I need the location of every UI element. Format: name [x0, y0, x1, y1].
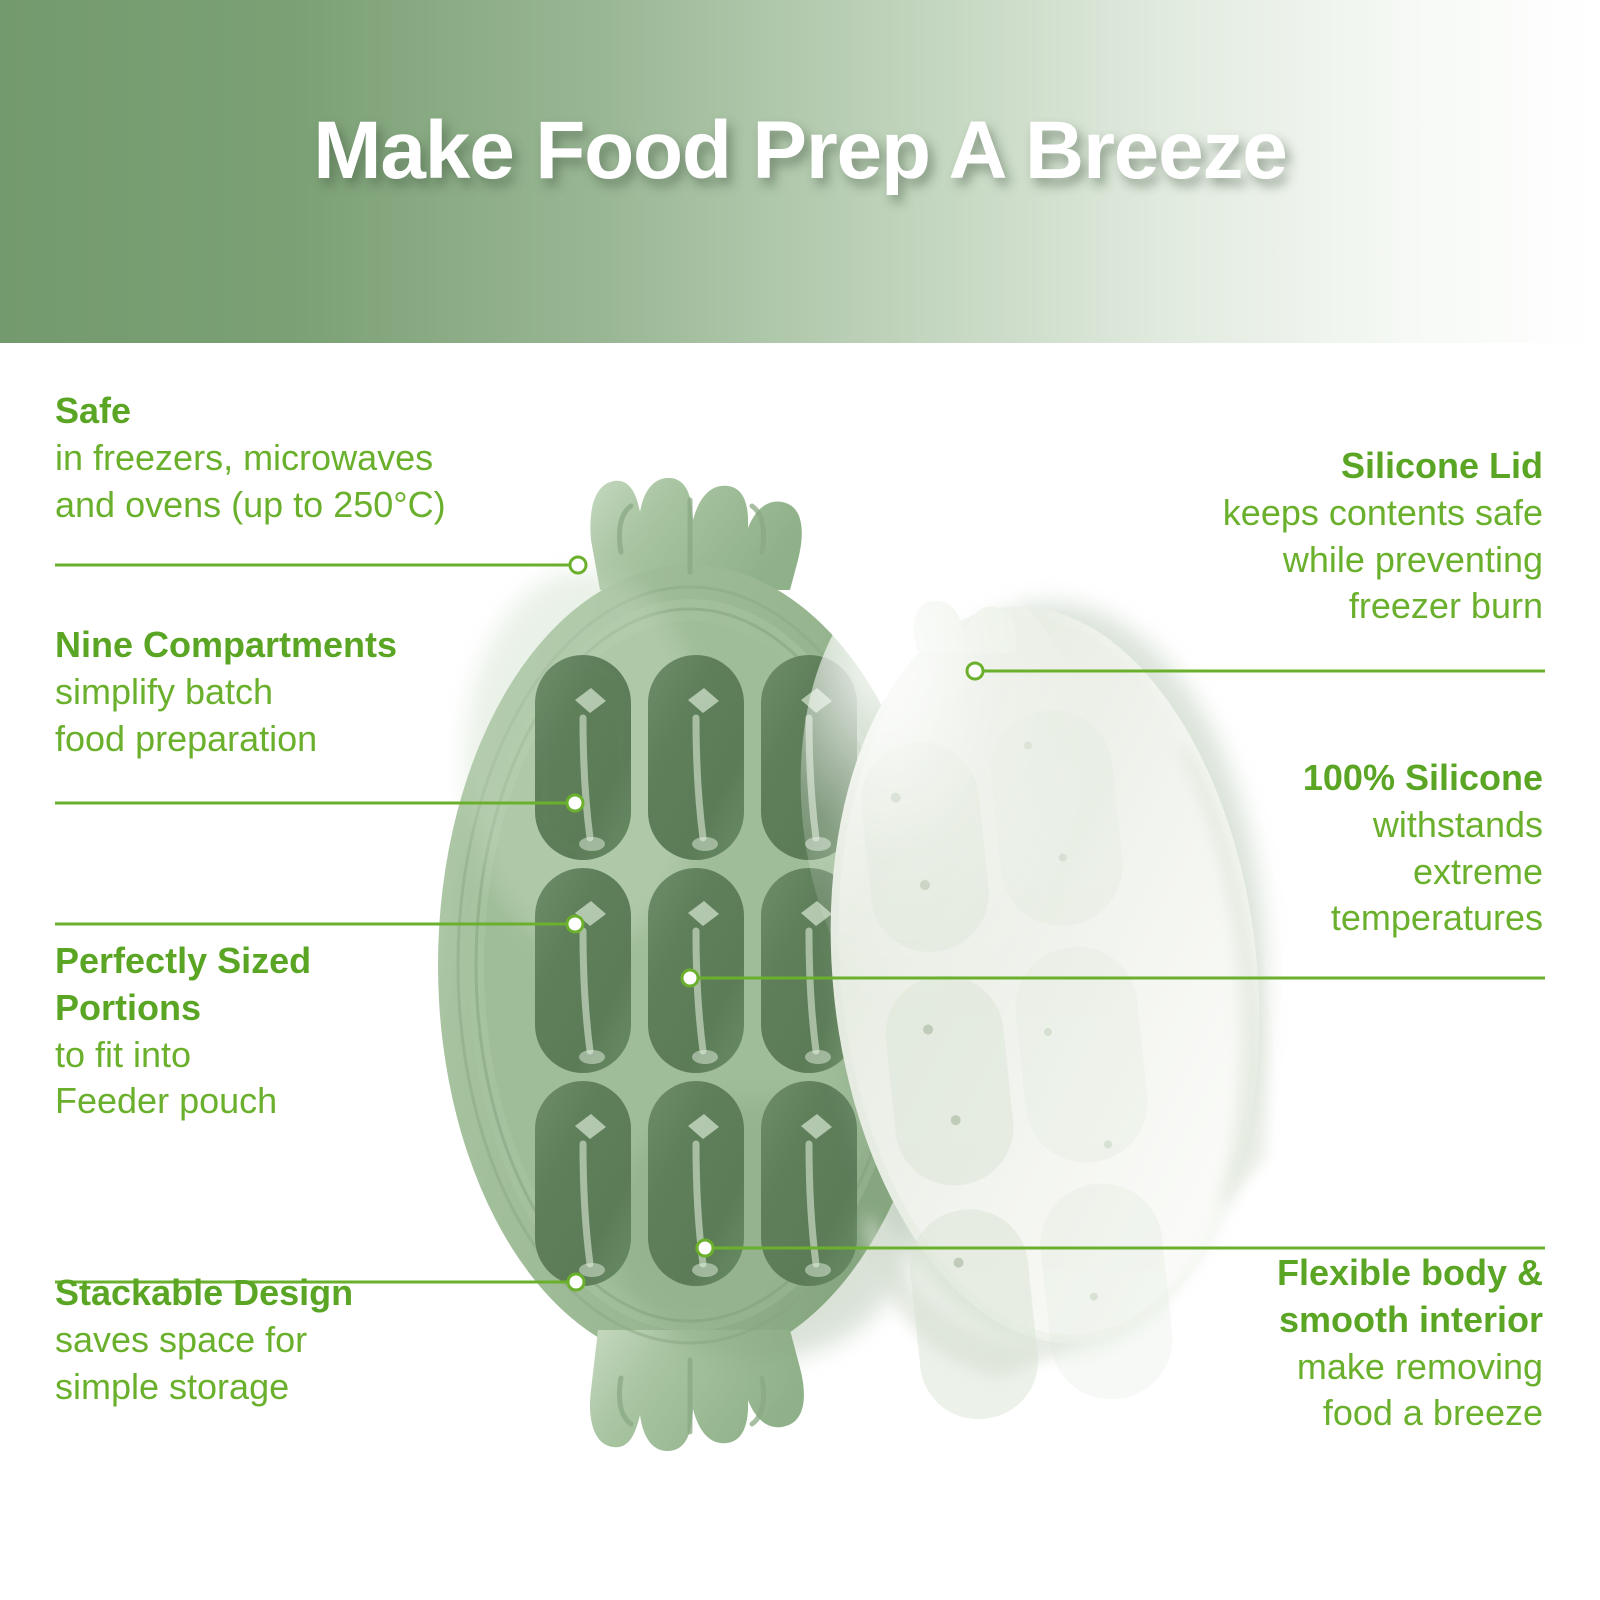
- callout-nine-compartments-body: simplify batch food preparation: [55, 669, 575, 763]
- callout-flexible-body-heading: Flexible body & smooth interior: [1023, 1250, 1543, 1344]
- callout-100-silicone-body: withstands extreme temperatures: [1023, 802, 1543, 942]
- callout-silicone-lid: Silicone Lid keeps contents safe while p…: [1023, 443, 1543, 630]
- callout-100-silicone: 100% Silicone withstands extreme tempera…: [1023, 755, 1543, 942]
- callout-stackable-design-body: saves space for simple storage: [55, 1317, 575, 1411]
- callout-100-silicone-heading: 100% Silicone: [1023, 755, 1543, 802]
- callout-nine-compartments: Nine Compartments simplify batch food pr…: [55, 622, 575, 762]
- callout-safe-body: in freezers, microwaves and ovens (up to…: [55, 435, 575, 529]
- callout-perfectly-sized-portions-body: to fit into Feeder pouch: [55, 1032, 575, 1126]
- leader-line-perfectly-sized-portions: [55, 916, 583, 932]
- leader-line-nine-compartments: [55, 795, 583, 811]
- callout-flexible-body-body: make removing food a breeze: [1023, 1344, 1543, 1438]
- leader-line-safe: [55, 557, 586, 573]
- callout-stackable-design: Stackable Design saves space for simple …: [55, 1270, 575, 1410]
- callout-silicone-lid-heading: Silicone Lid: [1023, 443, 1543, 490]
- callout-perfectly-sized-portions-heading: Perfectly Sized Portions: [55, 938, 575, 1032]
- callout-safe-heading: Safe: [55, 388, 575, 435]
- callout-silicone-lid-body: keeps contents safe while preventing fre…: [1023, 490, 1543, 630]
- callout-nine-compartments-heading: Nine Compartments: [55, 622, 575, 669]
- callout-safe: Safe in freezers, microwaves and ovens (…: [55, 388, 575, 528]
- callout-perfectly-sized-portions: Perfectly Sized Portions to fit into Fee…: [55, 938, 575, 1125]
- callout-stackable-design-heading: Stackable Design: [55, 1270, 575, 1317]
- leader-line-silicone-lid: [967, 663, 1545, 679]
- leader-line-100-silicone: [682, 970, 1545, 986]
- callout-flexible-body: Flexible body & smooth interior make rem…: [1023, 1250, 1543, 1437]
